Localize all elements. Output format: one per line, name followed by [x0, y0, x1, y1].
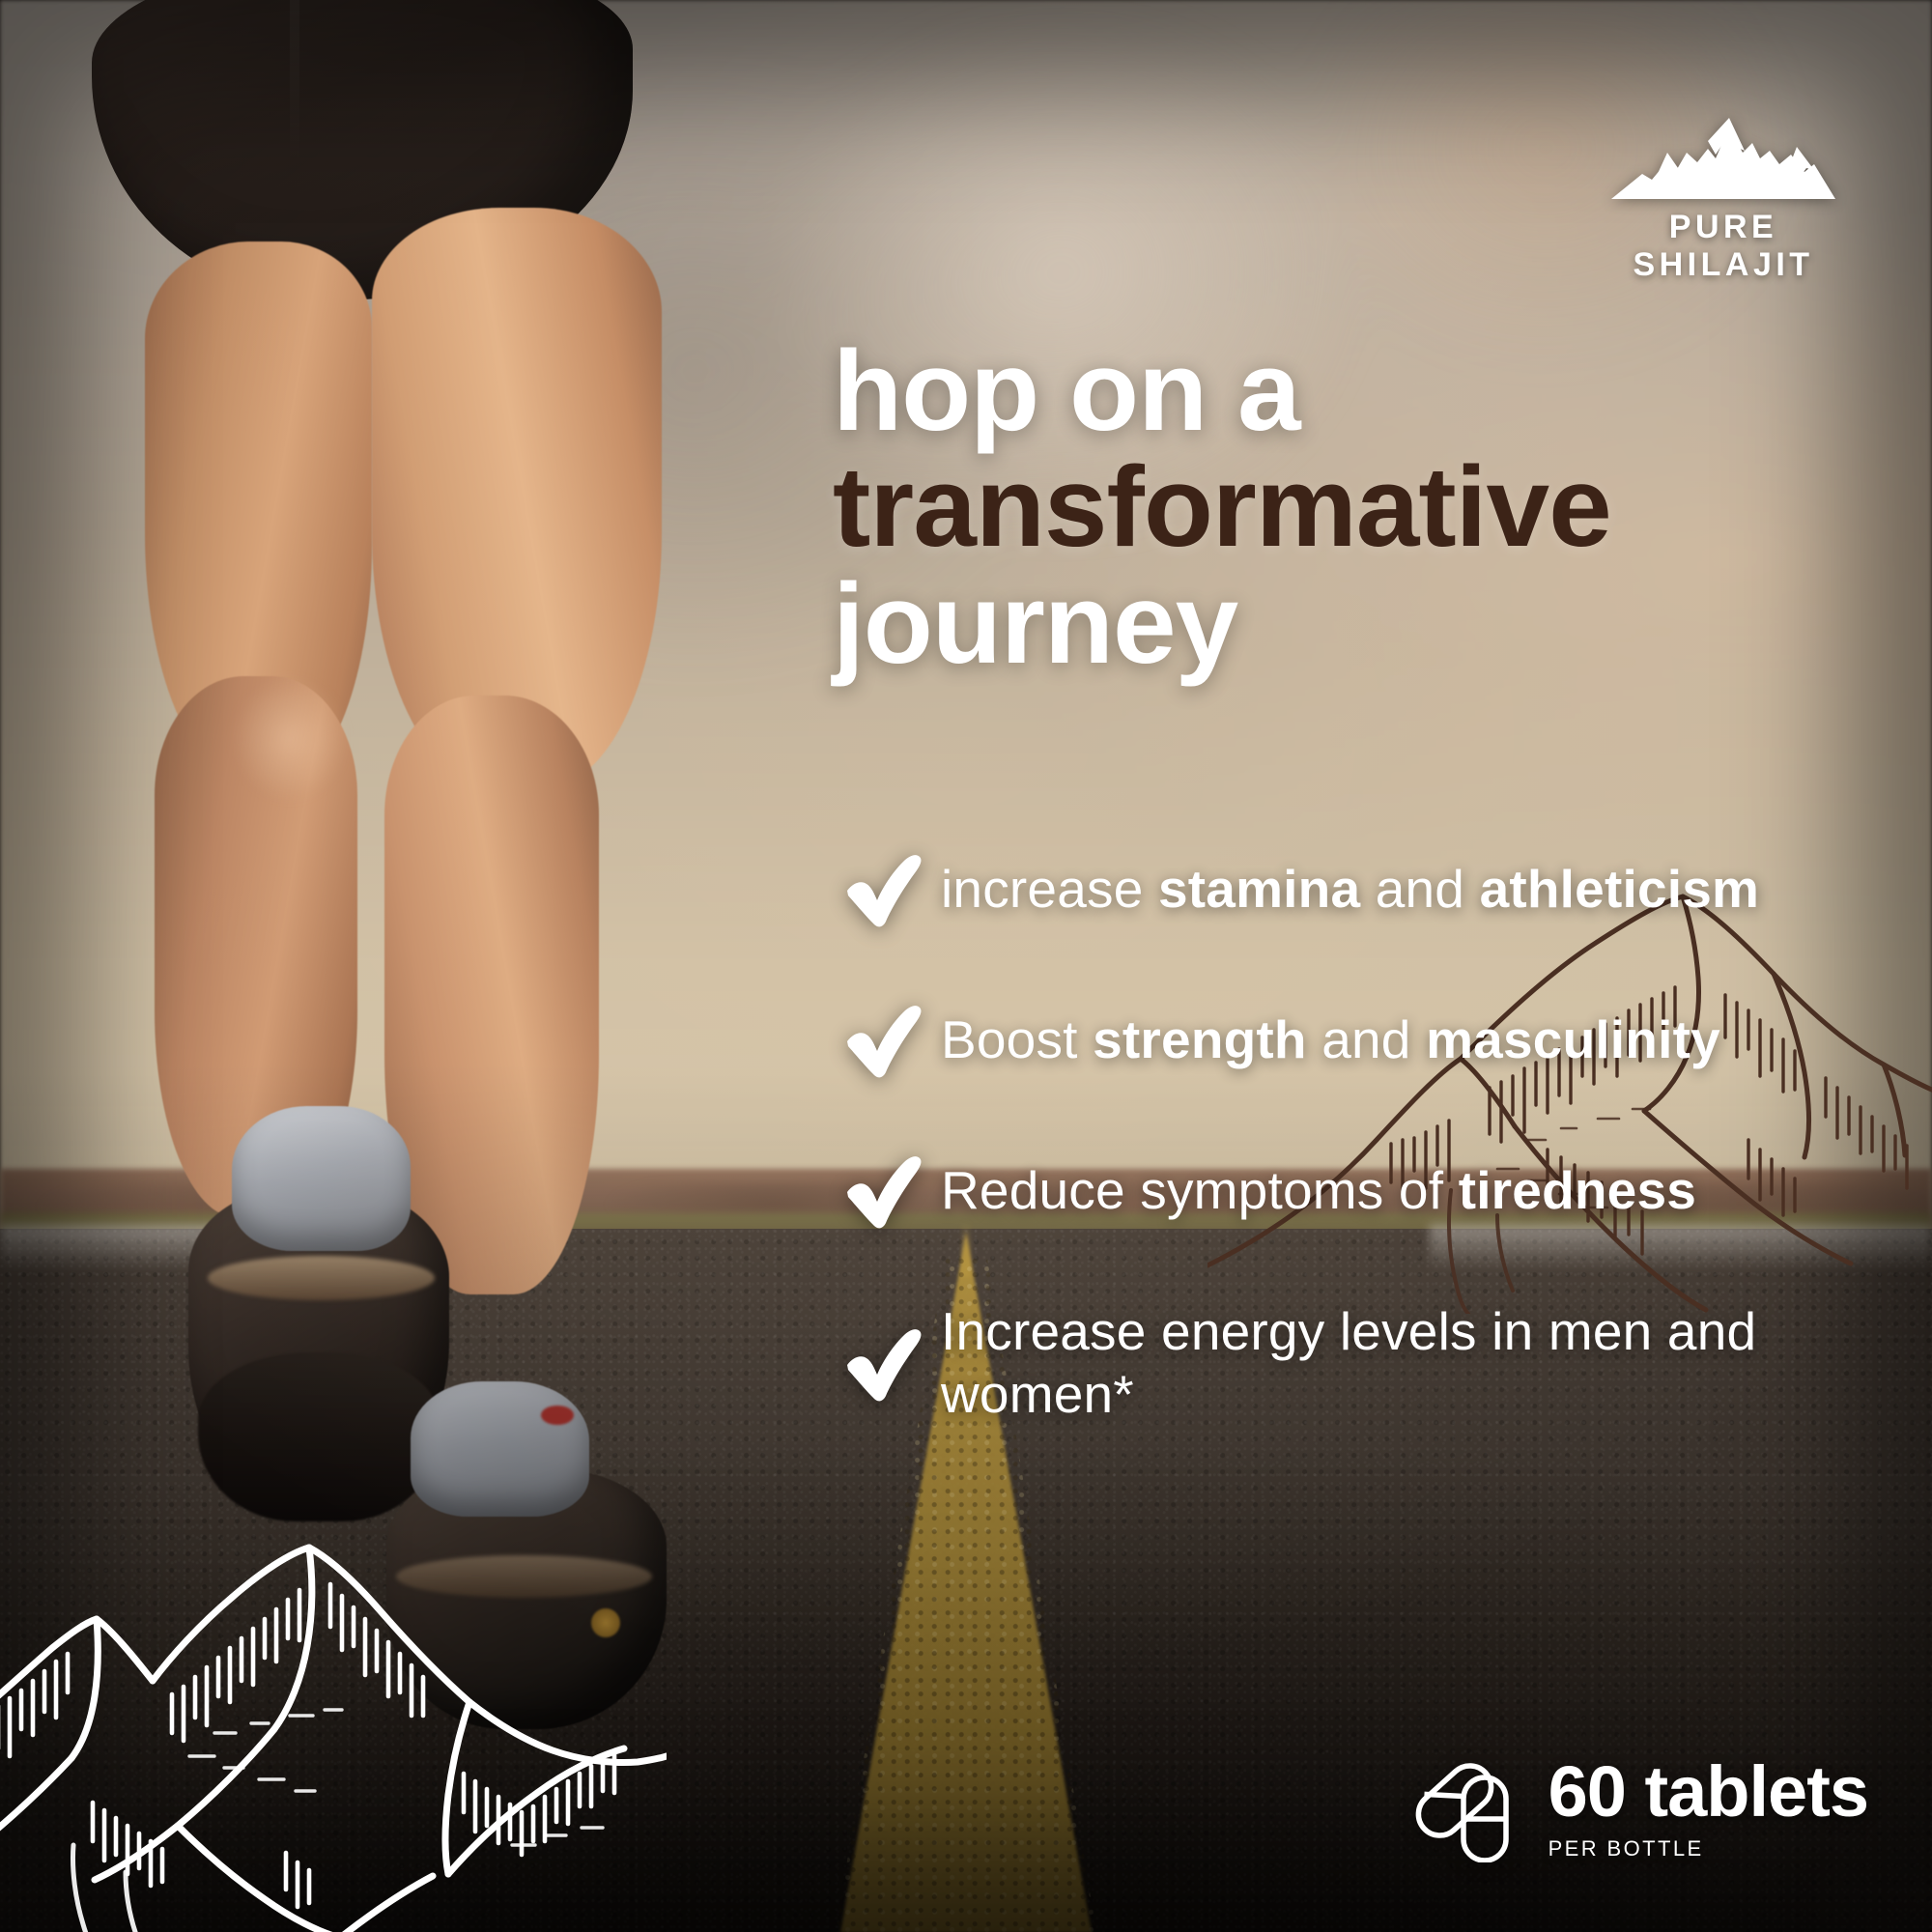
knee-highlight: [232, 676, 348, 802]
check-icon: [827, 1150, 941, 1231]
left-sock: [232, 1106, 411, 1251]
right-sock-logo-dot: [541, 1406, 574, 1425]
benefit-item: Boost strength and masculinity: [827, 999, 1909, 1080]
tablets-count: 60 tablets: [1548, 1756, 1868, 1828]
tablets-copy: 60 tablets PER BOTTLE: [1548, 1756, 1868, 1861]
benefit-item: Increase energy levels in men and women*: [827, 1300, 1909, 1426]
right-shoe-badge: [591, 1608, 620, 1637]
benefit-item: Reduce symptoms of tiredness: [827, 1150, 1909, 1231]
benefit-text: Boost strength and masculinity: [941, 1009, 1720, 1071]
check-icon: [827, 999, 941, 1080]
tablets-badge: 60 tablets PER BOTTLE: [1415, 1754, 1868, 1862]
benefit-text: Reduce symptoms of tiredness: [941, 1159, 1696, 1222]
capsule-pills-icon: [1415, 1754, 1523, 1862]
benefits-list: increase stamina and athleticismBoost st…: [827, 848, 1909, 1426]
brand-logo[interactable]: PURE SHILAJIT: [1578, 114, 1868, 284]
shorts-fold: [290, 0, 299, 164]
check-icon: [827, 848, 941, 929]
left-shoe-sole: [198, 1352, 440, 1521]
benefit-text: increase stamina and athleticism: [941, 858, 1759, 921]
tablets-sublabel: PER BOTTLE: [1548, 1836, 1868, 1861]
left-shoe-trim: [208, 1256, 435, 1300]
runner-figure: [0, 0, 831, 1719]
check-icon: [827, 1322, 941, 1404]
right-calf: [384, 696, 599, 1294]
headline-line-2: transformative: [833, 449, 1895, 565]
headline-line-3: journey: [833, 566, 1895, 682]
benefit-item: increase stamina and athleticism: [827, 848, 1909, 929]
headline-line-1: hop on a: [833, 333, 1895, 449]
right-sock: [411, 1381, 589, 1517]
page-title: hop on a transformative journey: [833, 333, 1895, 682]
benefit-text: Increase energy levels in men and women*: [941, 1300, 1909, 1426]
right-shoe-trim: [396, 1555, 652, 1598]
mountain-icon: [1578, 114, 1868, 203]
brand-wordmark: PURE SHILAJIT: [1578, 209, 1868, 284]
promo-poster: PURE SHILAJIT hop on a transformative jo…: [0, 0, 1932, 1932]
